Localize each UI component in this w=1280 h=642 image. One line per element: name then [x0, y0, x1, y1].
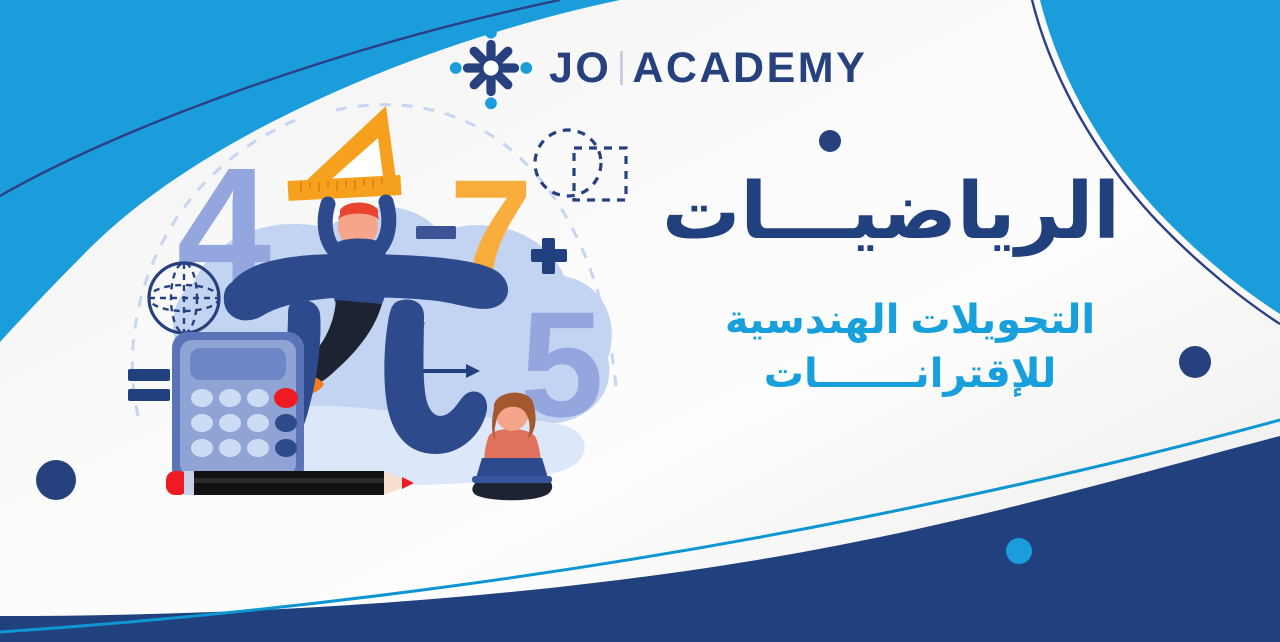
- dot-navy-mid-right: [1179, 346, 1211, 378]
- brand-logo-lockup[interactable]: JO ACADEMY: [449, 26, 867, 110]
- dot-cyan-top-left: [258, 89, 286, 117]
- dot-navy-lower-left: [36, 460, 76, 500]
- calculator-red-key: [274, 388, 298, 408]
- circle-square-outline-icon: [535, 130, 626, 200]
- brand-name-part2: ACADEMY: [632, 47, 867, 90]
- brand-name-part1: JO: [549, 47, 611, 90]
- dot-navy-upper-right: [819, 130, 841, 152]
- brand-wordmark: JO ACADEMY: [549, 47, 867, 90]
- brand-separator-icon: [620, 51, 623, 85]
- dot-cyan-bottom-right: [1006, 538, 1032, 564]
- starburst-asterisk-icon: [449, 26, 533, 110]
- minus-sign: [416, 226, 456, 239]
- course-title: الرياضيـــات: [700, 170, 1120, 253]
- course-subtitle-line2: للإقترانـــــــات: [700, 351, 1120, 397]
- math-illustration: 4 7 5: [96, 86, 696, 516]
- pencil-icon: [166, 471, 414, 495]
- calculator-icon: [172, 332, 304, 484]
- course-subtitle-line1: التحويلات الهندسية: [700, 297, 1120, 343]
- course-text-block: الرياضيـــات التحويلات الهندسية للإقتران…: [700, 170, 1120, 397]
- triangle-ruler-icon: [288, 106, 402, 201]
- course-banner: JO ACADEMY 4 7 5: [0, 0, 1280, 642]
